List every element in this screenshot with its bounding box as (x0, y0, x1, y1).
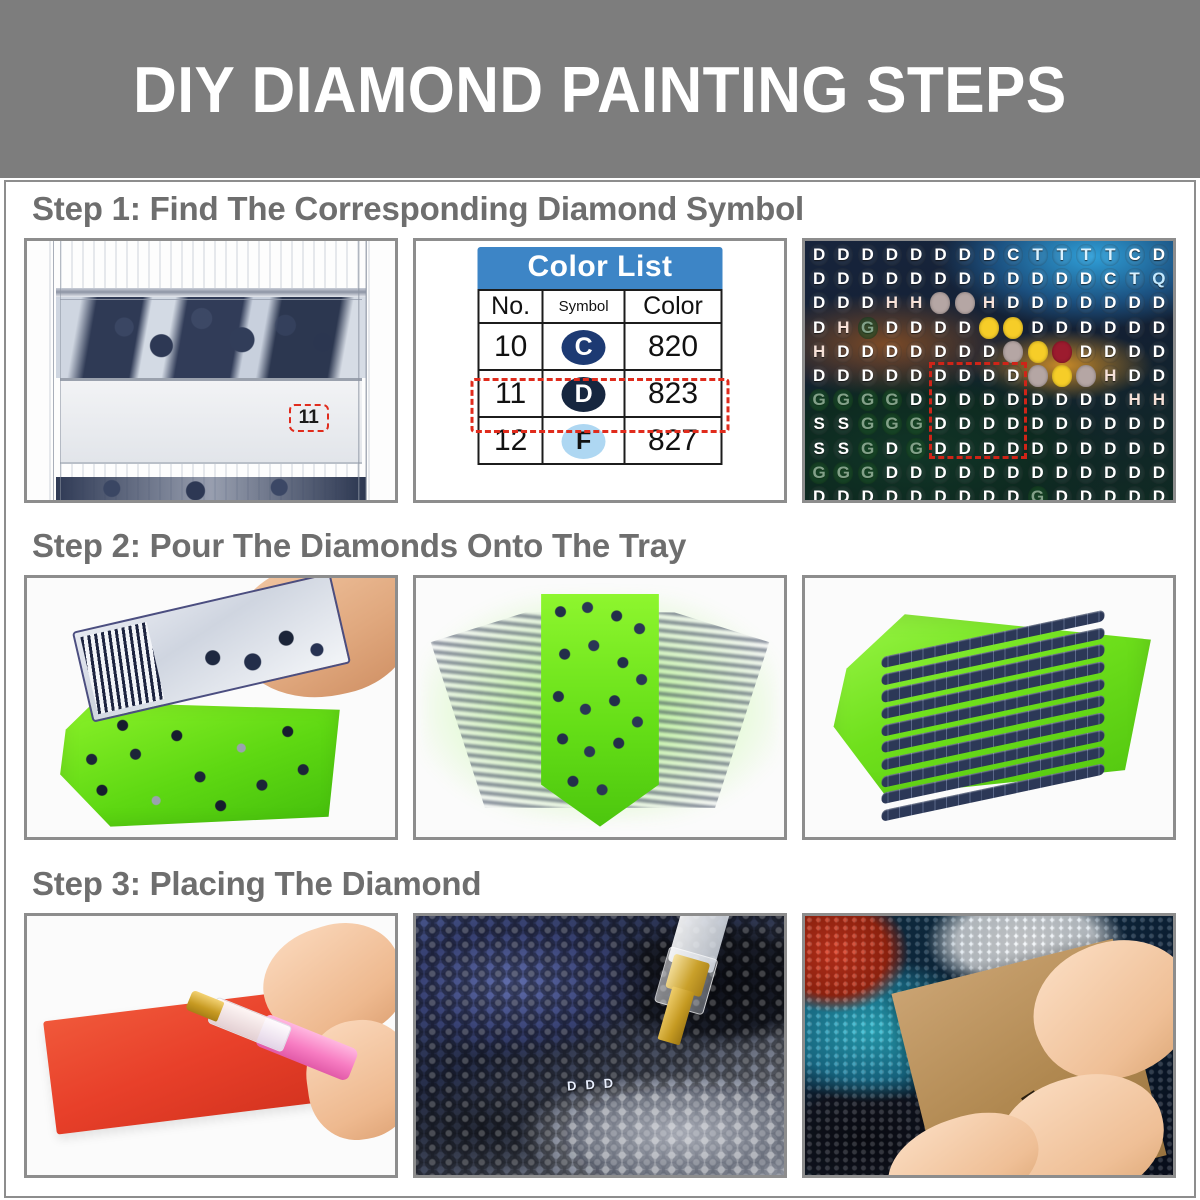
symbol-cell-D: D (1025, 388, 1049, 412)
col-header-no: No. (479, 290, 543, 323)
symbol-cell-H: H (807, 340, 831, 364)
symbol-cell-D: D (807, 485, 831, 500)
symbol-cell-H: H (1122, 388, 1146, 412)
symbol-cell-D: D (1050, 388, 1074, 412)
symbol-cell-D: D (1025, 291, 1049, 315)
canvas-symbol: D (585, 1076, 595, 1092)
symbol-cell-D: D (904, 316, 928, 340)
symbol-grid-row: DDDDDDDDDDDDCTQ (807, 267, 1171, 291)
step-1-block: Step 1: Find The Corresponding Diamond S… (6, 190, 1194, 503)
symbol-badge-d: D (562, 377, 606, 412)
symbol-cell-5: 5 (1050, 364, 1074, 388)
symbol-cell-D: D (1001, 364, 1025, 388)
symbol-cell-5: 5 (977, 316, 1001, 340)
symbol-cell-D: D (977, 243, 1001, 267)
symbol-cell-D: D (953, 388, 977, 412)
symbol-cell-D: D (1122, 364, 1146, 388)
symbol-cell-D: D (977, 437, 1001, 461)
symbol-cell-D: D (831, 364, 855, 388)
symbol-cell-C: C (1122, 243, 1146, 267)
symbol-cell-G: G (831, 388, 855, 412)
bag-number-callout: 11 (289, 404, 329, 432)
steps-frame: Step 1: Find The Corresponding Diamond S… (4, 180, 1196, 1198)
symbol-cell-D: D (928, 364, 952, 388)
symbol-cell-S: S (807, 437, 831, 461)
symbol-cell-D: D (928, 461, 952, 485)
symbol-grid-row: DDDDDDDDDGDDDDD (807, 485, 1171, 500)
symbol-cell-D: D (904, 340, 928, 364)
symbol-cell-D: D (953, 340, 977, 364)
symbol-cell-7: 7 (1050, 340, 1074, 364)
symbol-cell-G: G (807, 461, 831, 485)
symbol-cell-G: G (856, 316, 880, 340)
symbol-cell-D: D (1122, 340, 1146, 364)
cell-color: 820 (624, 323, 721, 370)
symbol-cell-D: D (1050, 485, 1074, 500)
symbol-cell-D: D (904, 267, 928, 291)
symbol-cell-D: D (1074, 340, 1098, 364)
symbol-cell-G: G (880, 388, 904, 412)
symbol-cell-H: H (977, 291, 1001, 315)
symbol-cell-D: D (1074, 388, 1098, 412)
symbol-cell-D: D (1147, 364, 1171, 388)
symbol-cell-D: D (880, 461, 904, 485)
cell-no: 12 (479, 417, 543, 464)
symbol-badge-f: F (562, 424, 606, 459)
symbol-cell-D: D (880, 485, 904, 500)
symbol-cell-D: D (1147, 316, 1171, 340)
symbol-cell-Q: Q (1147, 267, 1171, 291)
symbol-cell-D: D (1098, 412, 1122, 436)
symbol-cell-D: D (977, 485, 1001, 500)
symbol-cell-D: D (1147, 291, 1171, 315)
symbol-cell-D: D (1074, 412, 1098, 436)
symbol-cell-D: D (1025, 437, 1049, 461)
symbol-cell-D: D (1001, 485, 1025, 500)
symbol-cell-D: D (1098, 340, 1122, 364)
symbol-cell-D: D (1147, 437, 1171, 461)
symbol-cell-D: D (1122, 437, 1146, 461)
symbol-cell-S: S (807, 412, 831, 436)
infographic-page: DIY DIAMOND PAINTING STEPS Step 1: Find … (0, 0, 1200, 1200)
symbol-cell-D: D (1147, 340, 1171, 364)
symbol-cell-G: G (807, 388, 831, 412)
table-header-row: No. Symbol Color (479, 290, 722, 323)
symbol-cell-D: D (977, 340, 1001, 364)
symbol-cell-D: D (1001, 267, 1025, 291)
symbol-badge-c: C (562, 330, 606, 365)
symbol-cell-D: D (977, 388, 1001, 412)
symbol-grid-row: GGGGDDDDDDDDDHH (807, 388, 1171, 412)
symbol-cell-D: D (1001, 388, 1025, 412)
symbol-cell-D: D (953, 364, 977, 388)
diamond-bag (71, 578, 350, 723)
symbol-cell-T: T (1025, 243, 1049, 267)
step-2-images (6, 575, 1194, 840)
symbol-cell-D: D (880, 316, 904, 340)
symbol-cell-D: D (1122, 412, 1146, 436)
symbol-cell-D: D (856, 243, 880, 267)
symbol-cell-H: H (1147, 388, 1171, 412)
symbol-grid-row: DDDDDDDDDR5RHDD (807, 364, 1171, 388)
symbol-cell-D: D (953, 316, 977, 340)
symbol-cell-D: D (1074, 316, 1098, 340)
cell-color: 823 (624, 370, 721, 417)
symbol-cell-D: D (1025, 316, 1049, 340)
symbol-cell-H: H (880, 291, 904, 315)
symbol-cell-D: D (904, 485, 928, 500)
cell-no: 10 (479, 323, 543, 370)
symbol-cell-D: D (856, 340, 880, 364)
diamond-bag-photo: 11 (24, 238, 398, 503)
symbol-cell-D: D (977, 412, 1001, 436)
pressing-notebook-photo: Note Book (802, 913, 1176, 1178)
symbol-cell-D: D (1147, 461, 1171, 485)
symbol-cell-D: D (1001, 437, 1025, 461)
symbol-cell-D: D (904, 364, 928, 388)
banner: DIY DIAMOND PAINTING STEPS (0, 0, 1200, 178)
step-2-heading: Step 2: Pour The Diamonds Onto The Tray (6, 527, 1194, 565)
canvas-symbol-grid: DDDDDDDDCTTTTCDDDDDDDDDDDDDCTQDDDHHRRHDD… (802, 238, 1176, 503)
symbol-cell-C: C (1098, 267, 1122, 291)
symbol-cell-D: D (1074, 291, 1098, 315)
symbol-cell-D: D (1098, 437, 1122, 461)
symbol-cell-D: D (1001, 412, 1025, 436)
symbol-cell-G: G (880, 412, 904, 436)
symbol-cell-D: D (856, 291, 880, 315)
symbol-cell-G: G (904, 437, 928, 461)
symbol-cell-D: D (928, 267, 952, 291)
symbol-cell-H: H (904, 291, 928, 315)
color-list-title: Color List (478, 247, 723, 289)
symbol-cell-D: D (1025, 461, 1049, 485)
symbol-cell-D: D (1050, 412, 1074, 436)
canvas-symbols: D D D (566, 1075, 613, 1093)
symbol-cell-R: R (953, 291, 977, 315)
symbol-cell-D: D (831, 340, 855, 364)
table-row: 12 F 827 (479, 417, 722, 464)
symbol-cell-H: H (1098, 364, 1122, 388)
symbol-cell-G: G (856, 461, 880, 485)
symbol-cell-R: R (1001, 340, 1025, 364)
table-row: 10 C 820 (479, 323, 722, 370)
symbol-cell-D: D (831, 291, 855, 315)
symbol-grid-row: DDDHHRRHDDDDDDD (807, 291, 1171, 315)
symbol-cell-D: D (928, 485, 952, 500)
symbol-cell-5: 5 (1001, 316, 1025, 340)
symbol-cell-D: D (1122, 291, 1146, 315)
cell-symbol: C (543, 323, 625, 370)
symbol-cell-D: D (977, 267, 1001, 291)
table-row: 11 D 823 (479, 370, 722, 417)
symbol-cell-T: T (1074, 243, 1098, 267)
symbol-cell-D: D (904, 243, 928, 267)
canvas-symbol: D (566, 1078, 576, 1094)
step-1-heading: Step 1: Find The Corresponding Diamond S… (6, 190, 1194, 228)
color-list-card: Color List No. Symbol Color 10 (478, 247, 723, 465)
col-header-color: Color (624, 290, 721, 323)
diamonds-in-tray (548, 599, 651, 811)
symbol-cell-D: D (1025, 412, 1049, 436)
symbol-cell-D: D (880, 267, 904, 291)
symbol-cell-D: D (807, 267, 831, 291)
symbol-cell-G: G (856, 437, 880, 461)
symbol-cell-D: D (880, 437, 904, 461)
symbol-cell-D: D (904, 461, 928, 485)
symbol-grid-row: GGGDDDDDDDDDDDD (807, 461, 1171, 485)
symbol-cell-D: D (928, 316, 952, 340)
symbol-cell-D: D (807, 243, 831, 267)
symbol-cell-G: G (856, 412, 880, 436)
symbol-cell-D: D (977, 364, 1001, 388)
col-header-symbol: Symbol (543, 290, 625, 323)
symbol-grid-row: SSGDGDDDDDDDDDD (807, 437, 1171, 461)
symbol-cell-D: D (1074, 267, 1098, 291)
symbol-cell-C: C (1001, 243, 1025, 267)
symbol-cell-D: D (831, 485, 855, 500)
symbol-cell-D: D (831, 243, 855, 267)
step-1-images: 11 Color List No. Symbol Color (6, 238, 1194, 503)
symbol-cell-D: D (807, 364, 831, 388)
symbol-cell-D: D (977, 461, 1001, 485)
symbol-cell-G: G (831, 461, 855, 485)
canvas-symbol: D (603, 1075, 613, 1091)
symbol-cell-D: D (880, 243, 904, 267)
cell-symbol: D (543, 370, 625, 417)
symbol-cell-D: D (1050, 437, 1074, 461)
symbol-cell-D: D (953, 485, 977, 500)
step-3-block: Step 3: Placing The Diamond (6, 865, 1194, 1178)
symbol-cell-D: D (928, 437, 952, 461)
diamond-bead-highlights (416, 916, 784, 1175)
symbol-cell-D: D (807, 316, 831, 340)
symbol-cell-R: R (928, 291, 952, 315)
symbol-cell-D: D (928, 243, 952, 267)
shaking-tray-photo (413, 575, 787, 840)
aligned-diamonds-tray-photo (802, 575, 1176, 840)
step-3-heading: Step 3: Placing The Diamond (6, 865, 1194, 903)
symbol-cell-D: D (904, 388, 928, 412)
symbol-cell-T: T (1050, 243, 1074, 267)
symbol-cell-D: D (953, 412, 977, 436)
symbol-cell-T: T (1098, 243, 1122, 267)
symbol-grid-rows: DDDDDDDDCTTTTCDDDDDDDDDDDDDCTQDDDHHRRHDD… (807, 243, 1171, 500)
symbol-cell-D: D (1074, 461, 1098, 485)
cell-color: 827 (624, 417, 721, 464)
step-3-images: D D D (6, 913, 1194, 1178)
scattered-diamonds (71, 713, 329, 817)
symbol-cell-D: D (807, 291, 831, 315)
symbol-cell-D: D (1098, 461, 1122, 485)
symbol-cell-G: G (856, 388, 880, 412)
pen-on-wax-pad-photo (24, 913, 398, 1178)
color-list-table: Color List No. Symbol Color 10 (413, 238, 787, 503)
symbol-cell-R: R (1074, 364, 1098, 388)
symbol-cell-H: H (831, 316, 855, 340)
placing-diamond-closeup-photo: D D D (413, 913, 787, 1178)
symbol-cell-D: D (953, 461, 977, 485)
symbol-cell-D: D (1001, 461, 1025, 485)
symbol-cell-G: G (1025, 485, 1049, 500)
symbol-cell-D: D (928, 388, 952, 412)
symbol-cell-D: D (953, 243, 977, 267)
symbol-cell-S: S (831, 437, 855, 461)
symbol-cell-D: D (1050, 316, 1074, 340)
symbol-cell-5: 5 (1025, 340, 1049, 364)
symbol-cell-R: R (1025, 364, 1049, 388)
symbol-cell-D: D (831, 267, 855, 291)
symbol-cell-D: D (880, 340, 904, 364)
symbol-cell-D: D (1050, 267, 1074, 291)
symbol-cell-D: D (1098, 388, 1122, 412)
symbol-cell-G: G (904, 412, 928, 436)
symbol-cell-D: D (856, 267, 880, 291)
symbol-cell-D: D (1122, 485, 1146, 500)
symbol-cell-D: D (928, 340, 952, 364)
pouring-diamonds-photo (24, 575, 398, 840)
page-title: DIY DIAMOND PAINTING STEPS (133, 57, 1066, 122)
symbol-grid-row: HDDDDDDDR57DDDD (807, 340, 1171, 364)
symbol-grid-row: DDDDDDDDCTTTTCD (807, 243, 1171, 267)
symbol-cell-D: D (1074, 485, 1098, 500)
bag-seam-lines (27, 241, 395, 500)
symbol-cell-D: D (1098, 485, 1122, 500)
symbol-cell-D: D (1147, 485, 1171, 500)
symbol-cell-D: D (856, 364, 880, 388)
symbol-cell-D: D (856, 485, 880, 500)
symbol-cell-D: D (880, 364, 904, 388)
cell-symbol: F (543, 417, 625, 464)
symbol-cell-D: D (1147, 412, 1171, 436)
symbol-cell-D: D (1025, 267, 1049, 291)
symbol-cell-D: D (928, 412, 952, 436)
symbol-cell-D: D (1001, 291, 1025, 315)
symbol-cell-D: D (1122, 461, 1146, 485)
symbol-cell-S: S (831, 412, 855, 436)
symbol-cell-D: D (1122, 316, 1146, 340)
color-list-grid: No. Symbol Color 10 C 820 (478, 289, 723, 465)
symbol-cell-D: D (1050, 291, 1074, 315)
symbol-cell-D: D (1050, 461, 1074, 485)
symbol-grid-row: SSGGGDDDDDDDDDD (807, 412, 1171, 436)
symbol-cell-D: D (953, 267, 977, 291)
symbol-cell-D: D (1147, 243, 1171, 267)
step-2-block: Step 2: Pour The Diamonds Onto The Tray (6, 527, 1194, 840)
symbol-cell-D: D (1074, 437, 1098, 461)
cell-no: 11 (479, 370, 543, 417)
symbol-cell-T: T (1122, 267, 1146, 291)
symbol-cell-D: D (1098, 291, 1122, 315)
symbol-cell-D: D (953, 437, 977, 461)
symbol-grid-row: DHGDDDD55DDDDDD (807, 316, 1171, 340)
symbol-cell-D: D (1098, 316, 1122, 340)
